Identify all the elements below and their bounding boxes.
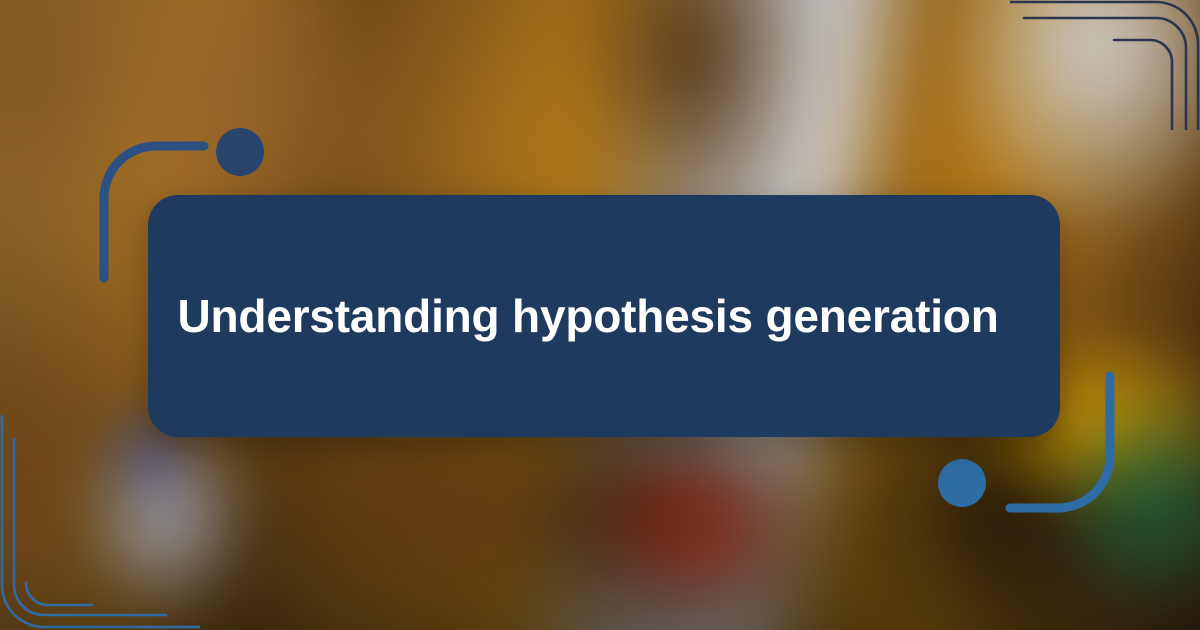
- bottom-right-dot-icon: [938, 459, 986, 507]
- title-card: Understanding hypothesis generation: [148, 195, 1060, 437]
- background-blob: [579, 426, 812, 627]
- page-title: Understanding hypothesis generation: [178, 288, 1021, 344]
- top-left-dot-icon: [216, 128, 264, 176]
- bottom-left-corner-lines-icon: [0, 415, 200, 630]
- title-wrapper: Understanding hypothesis generation: [148, 288, 1060, 344]
- top-right-corner-lines-icon: [1010, 0, 1200, 130]
- banner-root: Understanding hypothesis generation: [0, 0, 1200, 630]
